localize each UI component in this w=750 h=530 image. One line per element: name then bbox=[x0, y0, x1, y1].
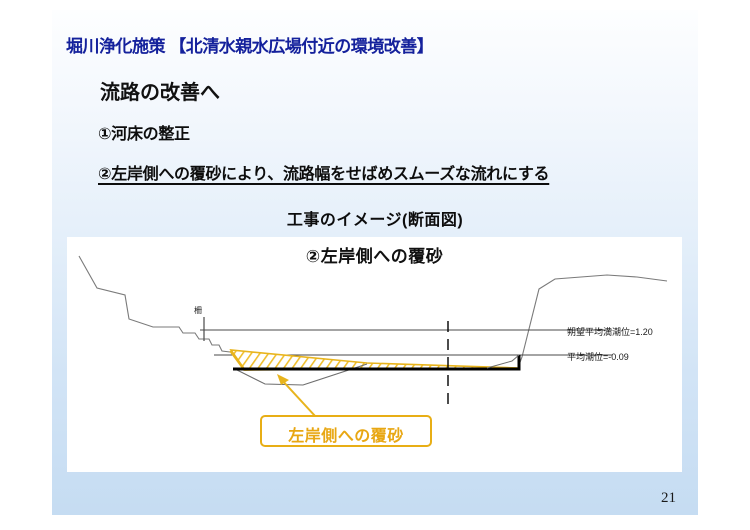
sand-covering-wedge-body bbox=[231, 350, 518, 370]
bed-to-bank-connector bbox=[487, 355, 519, 368]
spring-high-tide-label: 朔望平均満潮位=1.20 bbox=[567, 325, 653, 338]
fence-label: 柵 bbox=[194, 305, 202, 316]
callout-leader-line bbox=[280, 378, 346, 417]
bullet-item-1: ①河床の整正 bbox=[98, 120, 190, 144]
callout-leader-arrow bbox=[277, 374, 289, 385]
bullet-item-2: ②左岸側への覆砂により、流路幅をせばめスムーズな流れにする bbox=[98, 160, 549, 184]
sand-covering-callout-box: 左岸側への覆砂 bbox=[260, 415, 432, 447]
figure-caption: 工事のイメージ(断面図) bbox=[52, 206, 698, 230]
figure-title: ②左岸側への覆砂 bbox=[67, 242, 682, 267]
figure-panel: ②左岸側への覆砂 柵 朔望平均満潮位=1.20 平均潮位=-0.09 左岸側への… bbox=[67, 237, 682, 472]
mean-tide-label: 平均潮位=-0.09 bbox=[567, 350, 629, 363]
left-bank-terrain-line bbox=[79, 256, 230, 352]
slide-title: 堀川浄化施策 【北清水親水広場付近の環境改善】 bbox=[66, 32, 433, 57]
slide-canvas: 堀川浄化施策 【北清水親水広場付近の環境改善】 流路の改善へ ①河床の整正 ②左… bbox=[52, 10, 698, 515]
page-number: 21 bbox=[661, 490, 676, 507]
slide-subtitle: 流路の改善へ bbox=[100, 76, 220, 105]
sand-covering-callout-text: 左岸側への覆砂 bbox=[262, 422, 430, 446]
